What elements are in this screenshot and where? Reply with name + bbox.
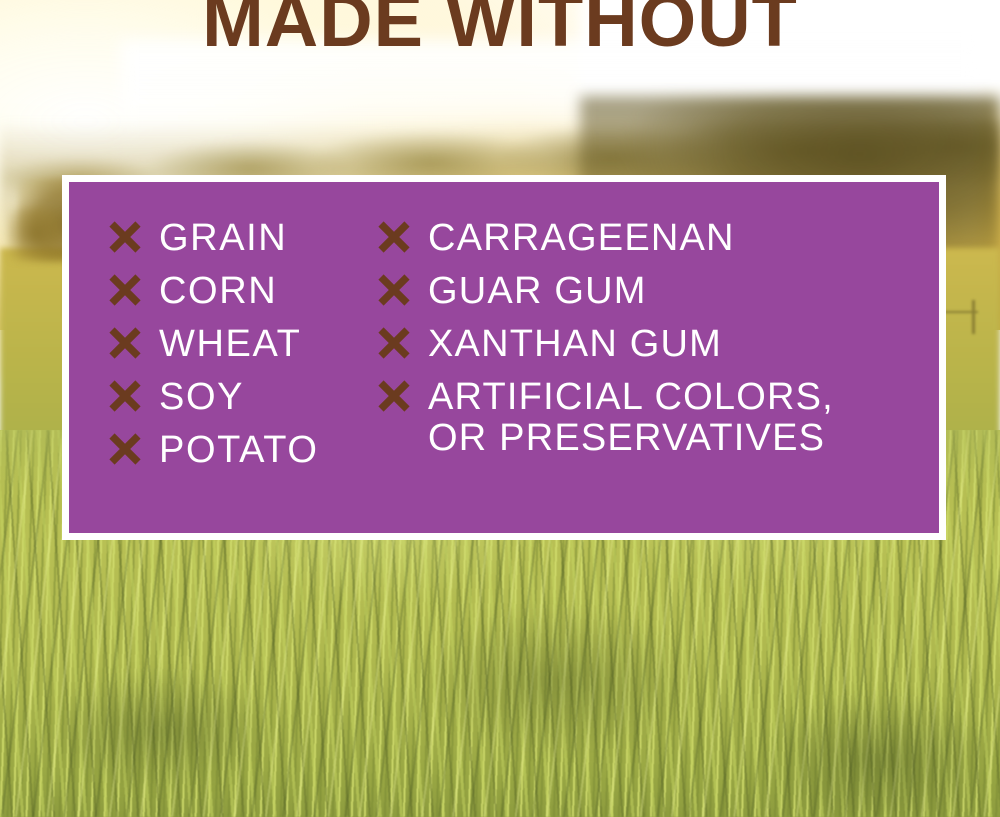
x-mark-icon bbox=[108, 432, 142, 473]
panel-columns: GRAIN CORN WHEAT bbox=[69, 182, 939, 533]
list-item: CARRAGEENAN bbox=[377, 218, 939, 259]
x-mark-icon bbox=[108, 326, 142, 367]
x-mark-icon bbox=[108, 273, 142, 314]
list-item-label: SOY bbox=[159, 377, 244, 418]
list-item-label: GRAIN bbox=[159, 218, 287, 259]
list-item: XANTHAN GUM bbox=[377, 324, 939, 365]
made-without-banner: MADE WITHOUT GRAIN bbox=[0, 0, 1000, 817]
list-item-label: WHEAT bbox=[159, 324, 301, 365]
x-mark-icon bbox=[377, 379, 411, 420]
list-item-label: ARTIFICIAL COLORS, OR PRESERVATIVES bbox=[428, 377, 834, 459]
list-item: GRAIN bbox=[108, 218, 369, 259]
page-title: MADE WITHOUT bbox=[0, 0, 1000, 58]
list-item: WHEAT bbox=[108, 324, 369, 365]
x-mark-icon bbox=[377, 220, 411, 261]
list-item: POTATO bbox=[108, 430, 369, 471]
list-item-label: GUAR GUM bbox=[428, 271, 647, 312]
list-item-label: CARRAGEENAN bbox=[428, 218, 735, 259]
list-item-label: POTATO bbox=[159, 430, 319, 471]
x-mark-icon bbox=[108, 379, 142, 420]
list-item-label: XANTHAN GUM bbox=[428, 324, 722, 365]
exclusion-column-left: GRAIN CORN WHEAT bbox=[69, 218, 369, 533]
x-mark-icon bbox=[377, 273, 411, 314]
list-item: GUAR GUM bbox=[377, 271, 939, 312]
x-mark-icon bbox=[377, 326, 411, 367]
list-item: SOY bbox=[108, 377, 369, 418]
tree-canopy-secondary bbox=[8, 208, 62, 260]
list-item: CORN bbox=[108, 271, 369, 312]
made-without-panel: GRAIN CORN WHEAT bbox=[62, 175, 946, 540]
list-item: ARTIFICIAL COLORS, OR PRESERVATIVES bbox=[377, 377, 939, 459]
fence-post bbox=[972, 300, 975, 334]
x-mark-icon bbox=[108, 220, 142, 261]
list-item-label: CORN bbox=[159, 271, 277, 312]
exclusion-column-right: CARRAGEENAN GUAR GUM bbox=[369, 218, 939, 533]
